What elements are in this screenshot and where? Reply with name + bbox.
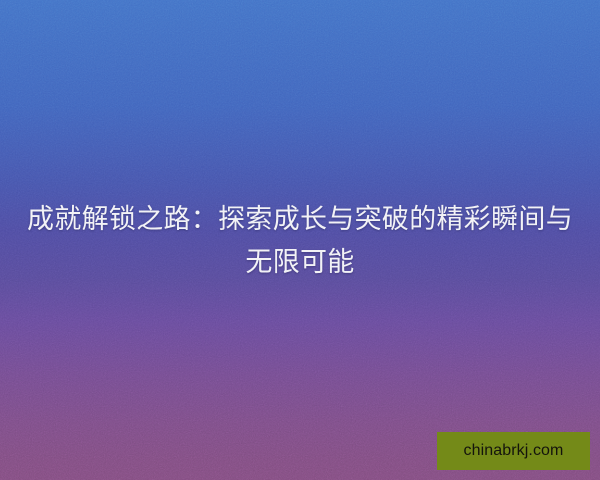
banner-title: 成就解锁之路：探索成长与突破的精彩瞬间与无限可能 <box>0 198 600 284</box>
watermark-badge: chinabrkj.com <box>437 432 590 470</box>
watermark-label: chinabrkj.com <box>463 443 563 459</box>
banner-image: 成就解锁之路：探索成长与突破的精彩瞬间与无限可能 chinabrkj.com <box>0 0 600 480</box>
